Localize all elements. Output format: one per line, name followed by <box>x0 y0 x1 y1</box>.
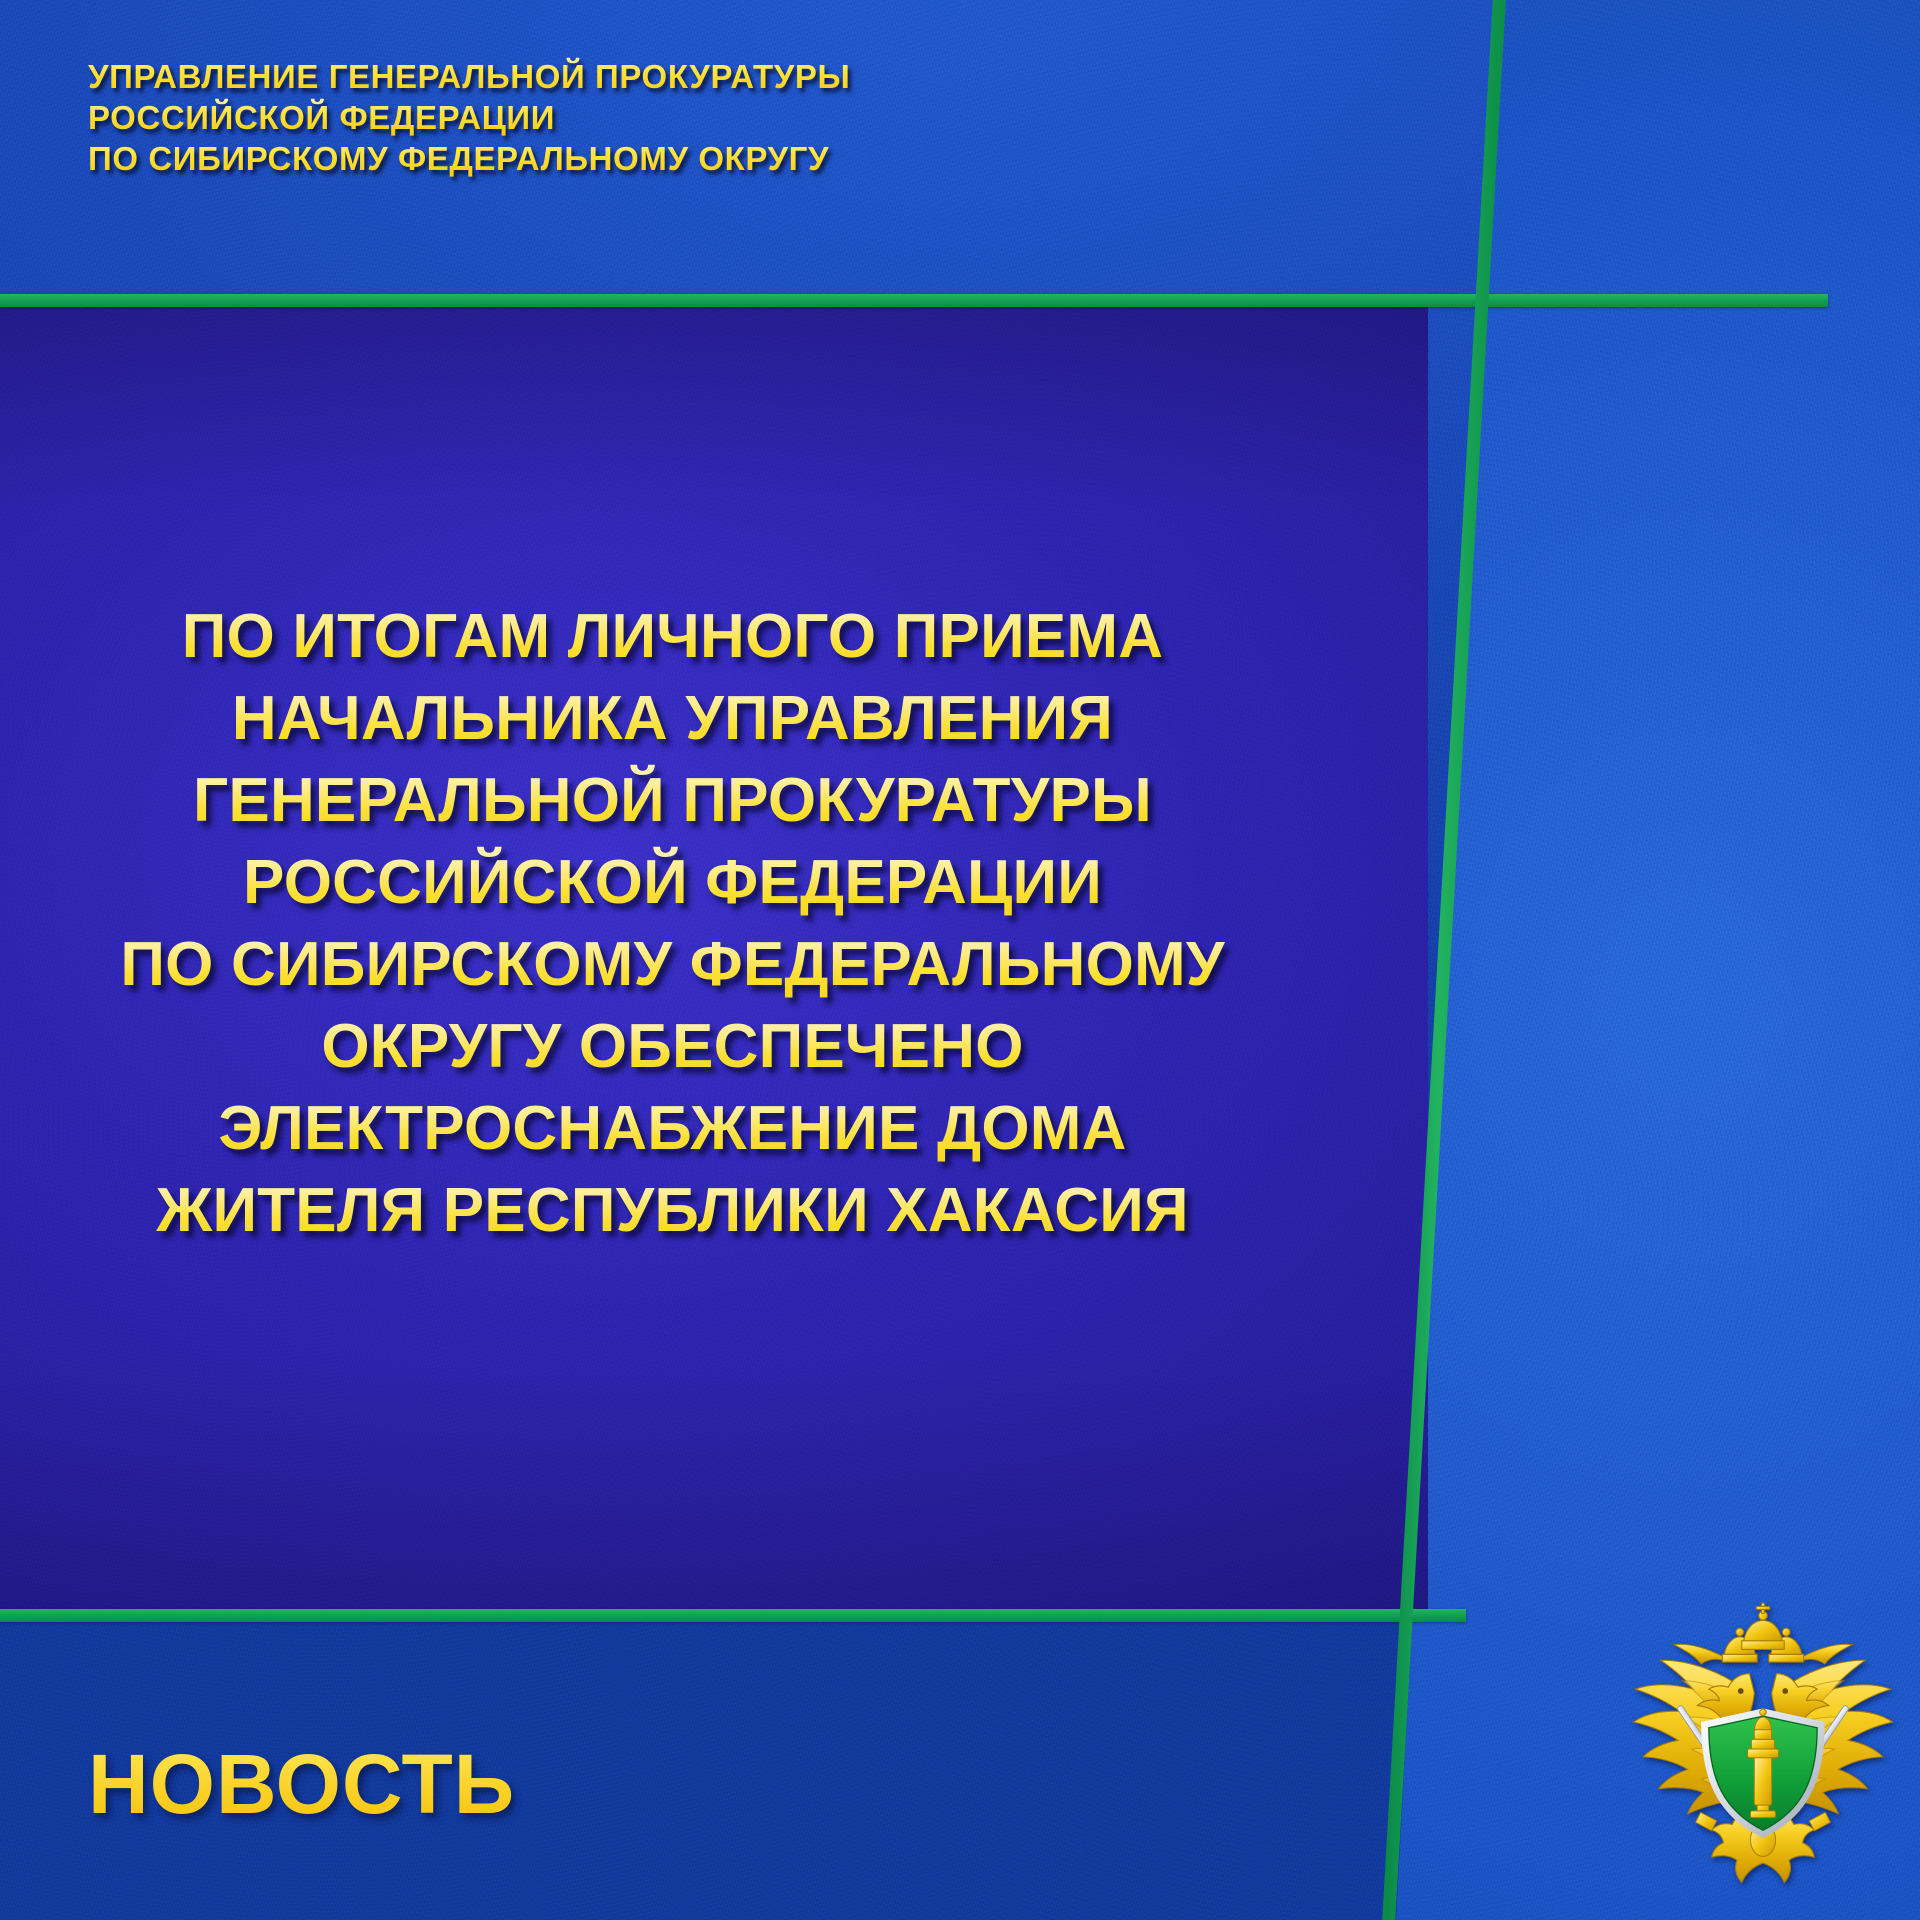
emblem-shield <box>1701 1708 1825 1838</box>
eagle-right-eye <box>1782 1688 1788 1694</box>
news-category-label: НОВОСТЬ <box>88 1738 515 1830</box>
headline-line-5: ПО СИБИРСКОМУ ФЕДЕРАЛЬНОМУ <box>0 924 1345 1006</box>
organization-header: УПРАВЛЕНИЕ ГЕНЕРАЛЬНОЙ ПРОКУРАТУРЫ РОССИ… <box>88 56 1288 179</box>
header-line-1: УПРАВЛЕНИЕ ГЕНЕРАЛЬНОЙ ПРОКУРАТУРЫ <box>88 56 1288 97</box>
eagle-crowns <box>1722 1603 1803 1662</box>
green-rule-bottom <box>0 1609 1466 1622</box>
headline-line-2: НАЧАЛЬНИКА УПРАВЛЕНИЯ <box>0 678 1345 760</box>
headline-line-4: РОССИЙСКОЙ ФЕДЕРАЦИИ <box>0 842 1345 924</box>
emblem-eagle <box>1633 1603 1892 1882</box>
eagle-left-eye <box>1738 1688 1744 1694</box>
poster-canvas: УПРАВЛЕНИЕ ГЕНЕРАЛЬНОЙ ПРОКУРАТУРЫ РОССИ… <box>0 0 1920 1920</box>
headline-line-1: ПО ИТОГАМ ЛИЧНОГО ПРИЕМА <box>0 596 1345 678</box>
headline-line-3: ГЕНЕРАЛЬНОЙ ПРОКУРАТУРЫ <box>0 760 1345 842</box>
headline-line-7: ЭЛЕКТРОСНАБЖЕНИЕ ДОМА <box>0 1088 1345 1170</box>
headline-line-6: ОКРУГУ ОБЕСПЕЧЕНО <box>0 1006 1345 1088</box>
headline-block: ПО ИТОГАМ ЛИЧНОГО ПРИЕМА НАЧАЛЬНИКА УПРА… <box>0 596 1345 1252</box>
headline-line-8: ЖИТЕЛЯ РЕСПУБЛИКИ ХАКАСИЯ <box>0 1170 1345 1252</box>
header-line-3: ПО СИБИРСКОМУ ФЕДЕРАЛЬНОМУ ОКРУГУ <box>88 138 1288 179</box>
header-line-2: РОССИЙСКОЙ ФЕДЕРАЦИИ <box>88 97 1288 138</box>
prosecutor-emblem-icon <box>1618 1600 1908 1900</box>
green-rule-top <box>0 294 1828 307</box>
